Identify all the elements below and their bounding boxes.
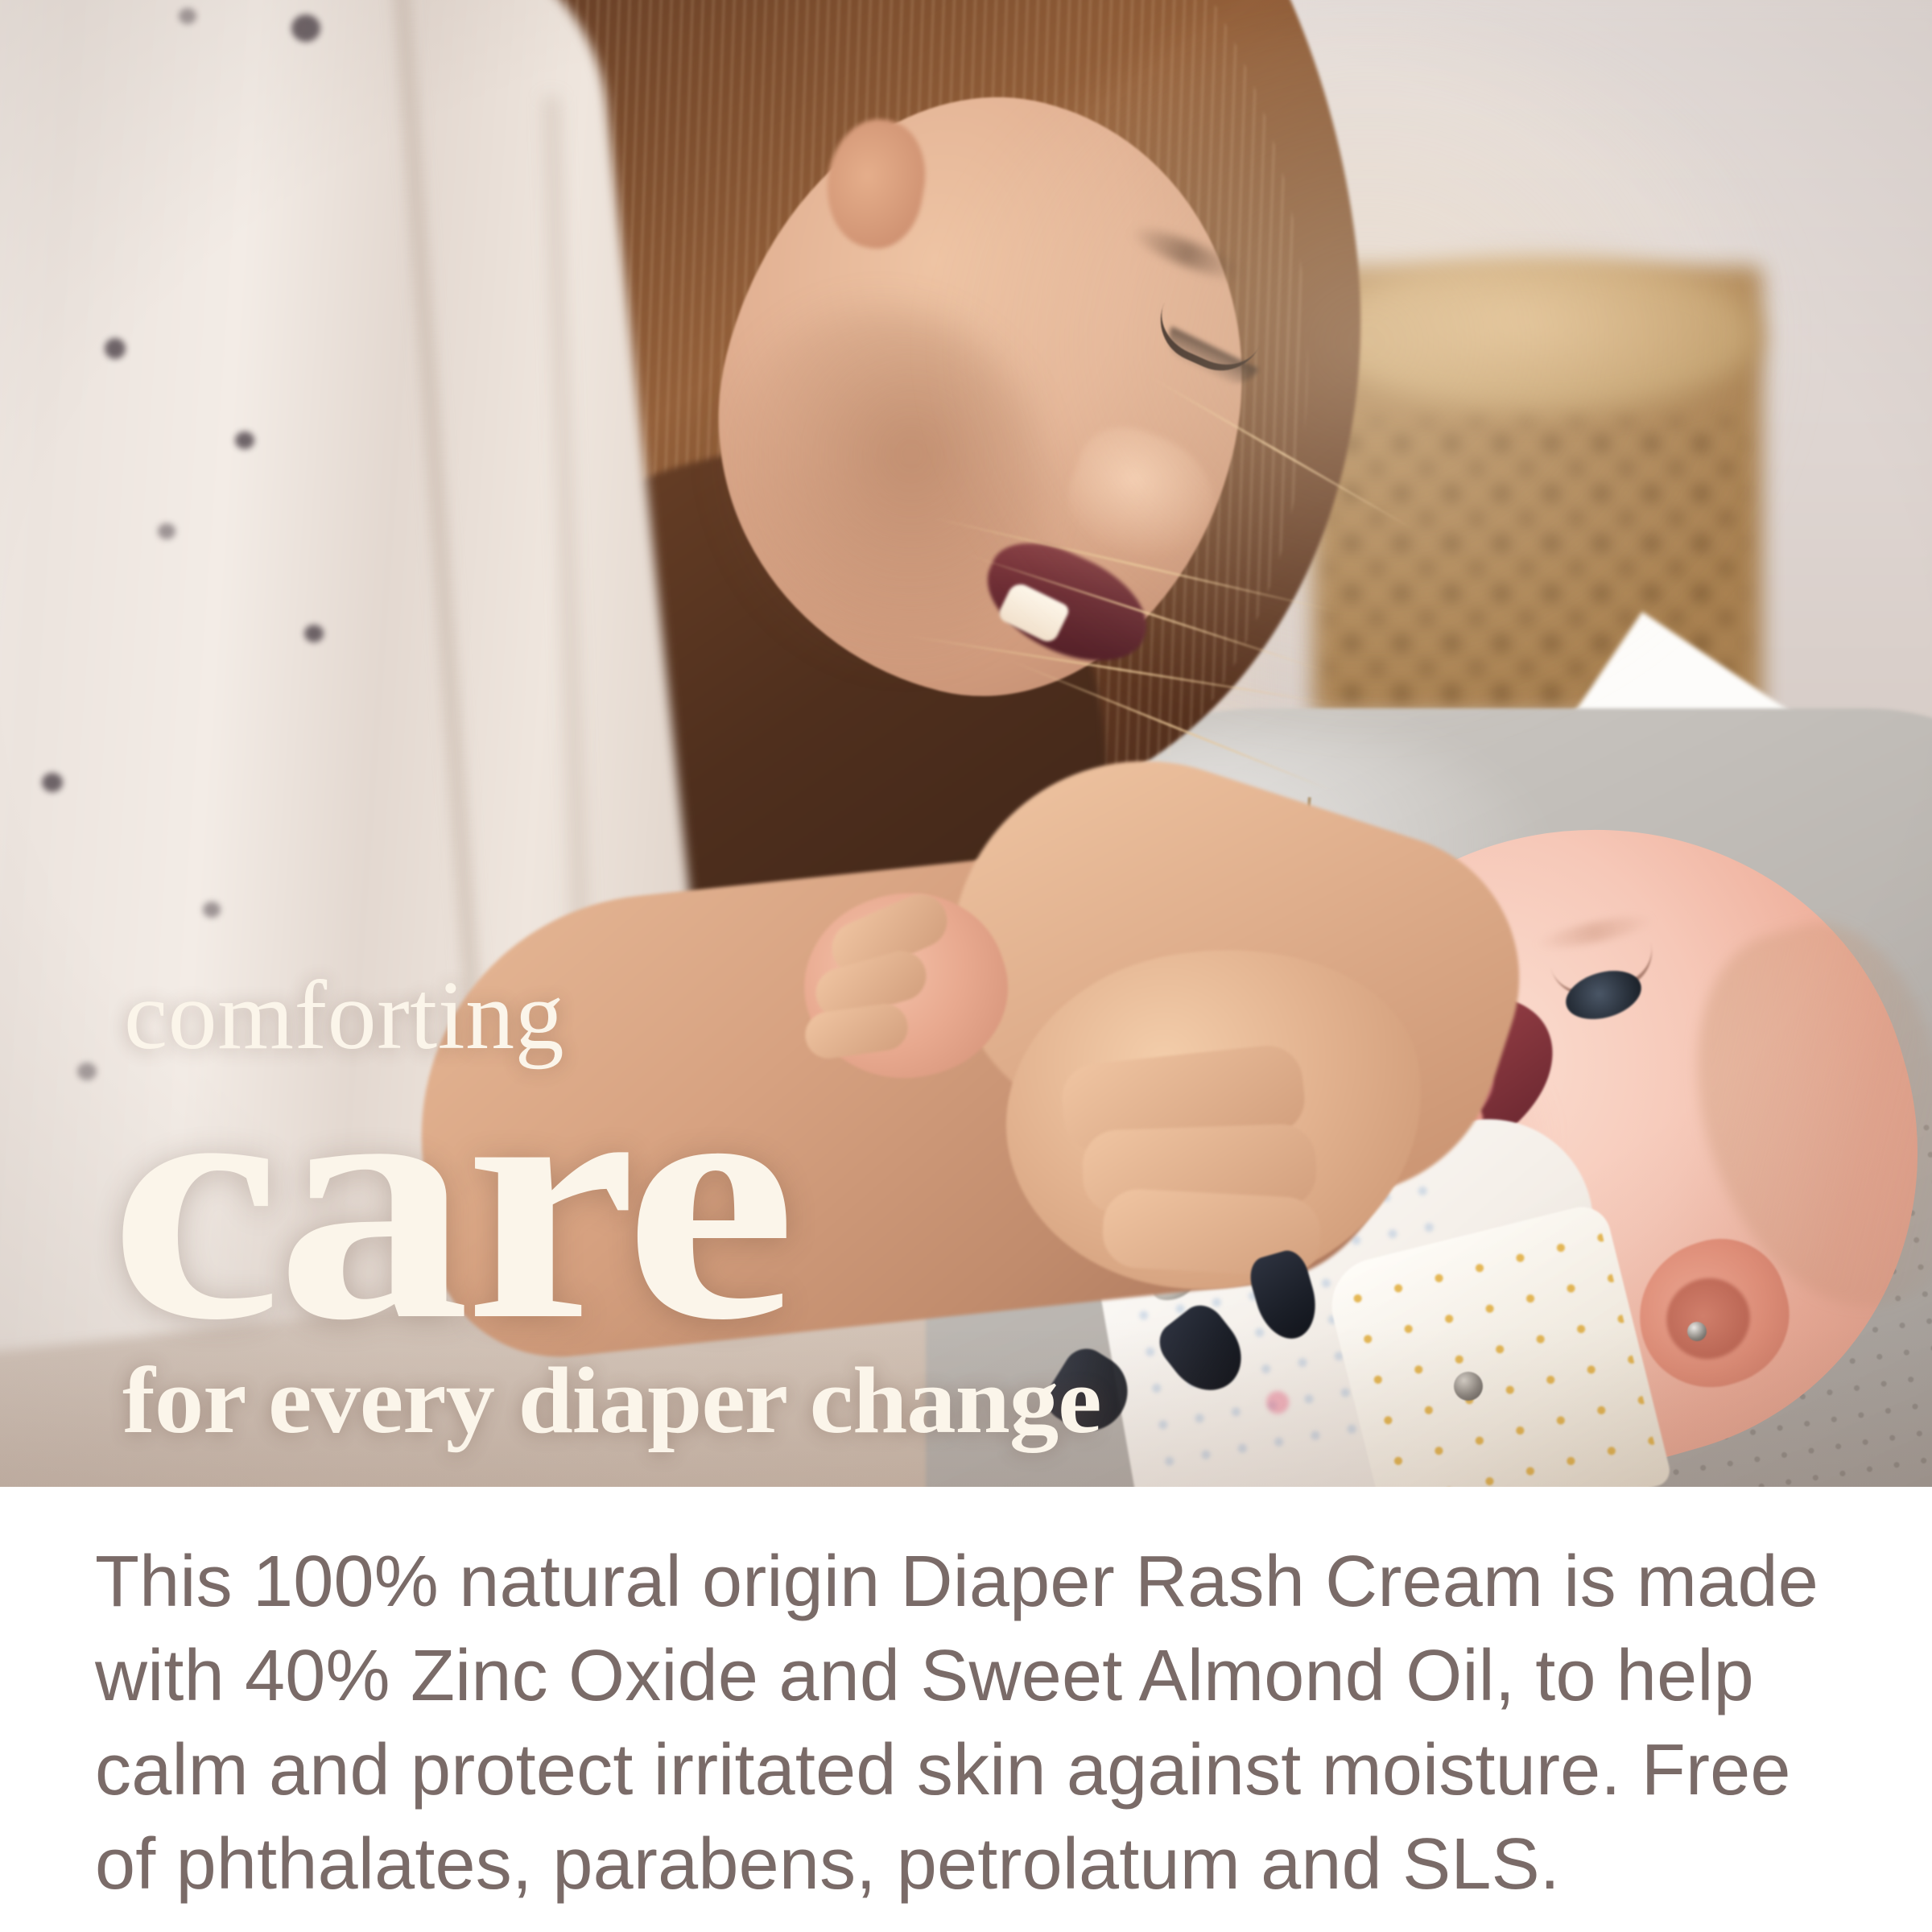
onesie-snap-button [1454, 1372, 1483, 1401]
blouse-polka-dot [203, 902, 221, 918]
blouse-polka-dot [179, 8, 196, 24]
hero-photo: comforting care for every diaper change [0, 0, 1932, 1487]
blouse-polka-dot [105, 338, 126, 359]
copy-panel: This 100% natural origin Diaper Rash Cre… [0, 1487, 1932, 1932]
product-banner: comforting care for every diaper change … [0, 0, 1932, 1932]
blouse-polka-dot [291, 14, 320, 42]
blouse-polka-dot [235, 431, 254, 449]
baby-ear-highlight [1687, 1322, 1707, 1341]
blouse-polka-dot [304, 625, 324, 642]
blouse-polka-dot [42, 773, 63, 792]
mother-face-shadow [708, 306, 1046, 676]
blouse-polka-dot [77, 1063, 97, 1080]
product-description: This 100% natural origin Diaper Rash Cre… [95, 1535, 1850, 1912]
blouse-polka-dot [158, 523, 175, 539]
basket-top-surface [1324, 259, 1759, 412]
